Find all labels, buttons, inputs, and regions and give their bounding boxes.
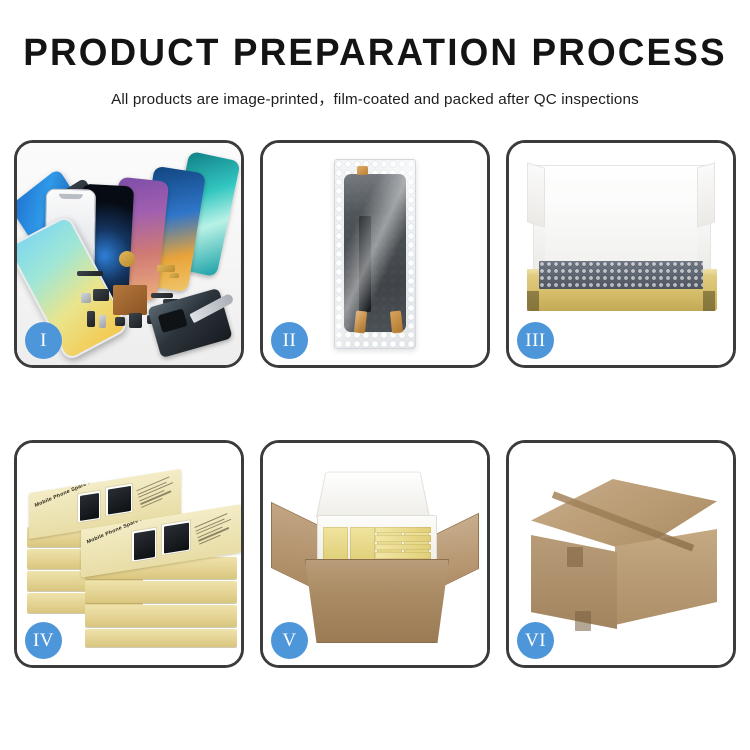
tweezers-graphic	[189, 293, 234, 323]
process-step-panel-4[interactable]: Mobile Phone Spare Parts Mobile Phone Sp…	[14, 440, 244, 668]
blue-adhesive-panel-graphic	[17, 168, 115, 294]
spare-parts-cluster-graphic	[75, 249, 241, 353]
page-title: PRODUCT PREPARATION PROCESS	[11, 34, 739, 74]
phone-black-graphic	[76, 184, 134, 309]
kraft-tray-edge-graphic	[527, 269, 717, 277]
lid-flap-left-graphic	[527, 162, 545, 227]
process-step-panel-3[interactable]: III	[506, 140, 736, 368]
process-step-panel-1[interactable]: I	[14, 140, 244, 368]
carton-front-face-graphic	[531, 535, 617, 629]
foam-wall-graphic	[545, 191, 697, 269]
phone-purple-graphic	[107, 177, 169, 302]
step-badge-6: VI	[517, 622, 554, 659]
yellow-boxes-horizontal-graphic	[375, 527, 431, 567]
bag-gloss-graphic	[335, 160, 415, 348]
printed-box-front: Mobile Phone Spare Parts	[81, 504, 241, 577]
tray-corner-right-graphic	[703, 291, 715, 311]
phone-back-housing-graphic	[147, 288, 232, 358]
process-step-panel-6[interactable]: VI	[506, 440, 736, 668]
printed-box-label-rear: Mobile Phone Spare Parts	[34, 475, 102, 509]
carton-top-face-graphic	[531, 479, 717, 553]
foam-lid-graphic	[533, 165, 711, 279]
carton-body-graphic	[305, 559, 449, 643]
tray-corner-left-graphic	[527, 291, 539, 311]
tape-bottom-left-graphic	[354, 310, 367, 333]
tape-bottom-right-graphic	[390, 310, 403, 333]
step-badge-3: III	[517, 322, 554, 359]
phone-teal-graphic	[165, 151, 240, 277]
box-stack-graphic: Mobile Phone Spare Parts Mobile Phone Sp…	[25, 465, 239, 647]
lid-flap-right-graphic	[697, 162, 715, 227]
step-badge-1: I	[25, 322, 62, 359]
yellow-boxes-vertical-graphic	[323, 527, 429, 567]
process-step-panel-2[interactable]: II	[260, 140, 490, 368]
carton-tape-upper-graphic	[567, 547, 583, 567]
flex-cable-graphic	[359, 216, 371, 312]
printed-box-rear: Mobile Phone Spare Parts	[29, 469, 181, 539]
phone-blue-gold-graphic	[136, 166, 206, 293]
carton-tape-lower-graphic	[575, 611, 591, 631]
step-badge-4: IV	[25, 622, 62, 659]
phone-screen-graphic	[344, 174, 406, 332]
process-step-grid: I II	[14, 140, 736, 668]
styrofoam-cooler-graphic	[317, 515, 437, 575]
page-subtitle: All products are image-printed，film-coat…	[0, 87, 750, 109]
carton-flap-right-graphic	[429, 513, 479, 593]
carton-tape-seam-graphic	[552, 491, 695, 551]
process-step-panel-5[interactable]: V	[260, 440, 490, 668]
kraft-tray-graphic	[527, 269, 717, 311]
tape-top-graphic	[357, 166, 368, 175]
step-badge-2: II	[271, 322, 308, 359]
page-header: PRODUCT PREPARATION PROCESS All products…	[0, 0, 750, 109]
carton-side-face-graphic	[615, 529, 717, 625]
styrofoam-lid-graphic	[316, 472, 431, 519]
printed-box-label-front: Mobile Phone Spare Parts	[86, 512, 154, 546]
bubble-wrap-bag-graphic	[334, 159, 416, 349]
step-badge-5: V	[271, 622, 308, 659]
carton-flap-left-graphic	[271, 502, 325, 594]
bubble-wrap-layer-graphic	[539, 261, 703, 289]
screen-protector-graphic	[44, 189, 96, 308]
